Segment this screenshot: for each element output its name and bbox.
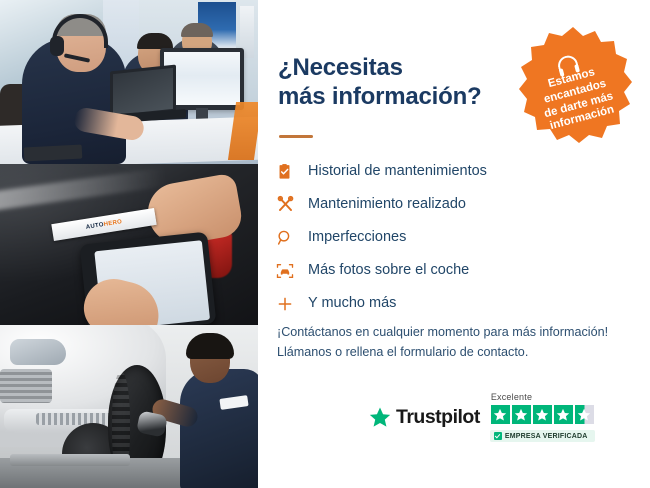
feature-item-maintenance-done: Mantenimiento realizado (276, 188, 576, 221)
contact-paragraph: ¡Contáctanos en cualquier momento para m… (277, 322, 627, 363)
car-lift-arm (10, 454, 130, 466)
magnifier-icon (276, 227, 306, 249)
ruler-brand-auto: AUTO (85, 222, 104, 231)
trustpilot-stars (491, 405, 594, 424)
ruler-brand-hero: HERO (103, 219, 122, 228)
content-panel: ¿Necesitas más información? Estamos enca… (258, 0, 650, 488)
page-title-line-2: más información? (278, 82, 518, 111)
mechanic-wheel-inspection-photo (0, 325, 258, 488)
star-5-half (575, 405, 594, 424)
verified-company-badge: EMPRESA VERIFICADA (490, 430, 595, 442)
photo-column: AUTOHERO (0, 0, 258, 488)
star-3 (533, 405, 552, 424)
feature-item-maintenance-history: Historial de mantenimientos (276, 155, 576, 188)
background-person-3-hair (181, 23, 213, 37)
agent-headset-earcup (50, 36, 64, 56)
clipboard-check-icon (276, 161, 306, 183)
car-inspection-ruler-photo: AUTOHERO (0, 164, 258, 325)
star-4 (554, 405, 573, 424)
promo-starburst-badge: Estamos encantados de darte más informac… (514, 25, 632, 143)
feature-label: Historial de mantenimientos (306, 164, 487, 179)
call-center-agents-photo (0, 0, 258, 164)
feature-label: Mantenimiento realizado (306, 197, 466, 212)
contact-line-2: Llámanos o rellena el formulario de cont… (277, 342, 627, 362)
wrench-screwdriver-icon (276, 194, 306, 216)
feature-label: Imperfecciones (306, 230, 406, 245)
mechanic-body (180, 369, 258, 488)
car-headlight (10, 339, 66, 365)
title-underline-rule (279, 135, 313, 138)
feature-label: Más fotos sobre el coche (306, 263, 469, 278)
background-person-2-hair (137, 33, 173, 49)
trustpilot-wordmark: Trustpilot (396, 406, 480, 429)
trustpilot-score: Excelente EMPRESA VERIFICADA (490, 392, 595, 442)
page-title-line-1: ¿Necesitas (278, 53, 518, 82)
page-title: ¿Necesitas más información? (278, 53, 518, 112)
car-grille (0, 369, 52, 403)
feature-item-imperfections: Imperfecciones (276, 221, 576, 254)
car-scan-icon (276, 260, 306, 282)
star-2 (512, 405, 531, 424)
trustpilot-logo: Trustpilot (368, 406, 480, 429)
feature-list: Historial de mantenimientos Mantenimient… (276, 155, 576, 320)
promo-banner: AUTOHERO (0, 0, 650, 488)
headset-icon (556, 54, 579, 73)
feature-label: Y mucho más (306, 296, 396, 311)
star-1 (491, 405, 510, 424)
trustpilot-rating-label: Excelente (490, 392, 532, 402)
plus-icon (276, 293, 306, 315)
check-icon (494, 432, 502, 440)
trustpilot-rating-block[interactable]: Trustpilot Excelente EMPRESA VERIFICADA (368, 386, 636, 448)
verified-label: EMPRESA VERIFICADA (505, 433, 588, 440)
feature-item-more-photos: Más fotos sobre el coche (276, 254, 576, 287)
trustpilot-star-icon (368, 406, 392, 429)
contact-line-1: ¡Contáctanos en cualquier momento para m… (277, 322, 627, 342)
feature-item-much-more: Y mucho más (276, 287, 576, 320)
